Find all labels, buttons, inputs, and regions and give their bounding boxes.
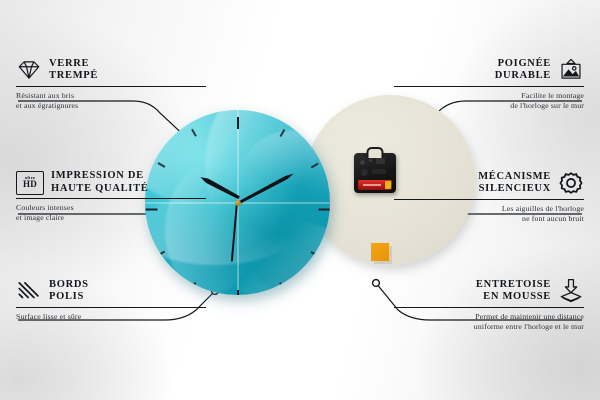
mechanism-hanger: [367, 147, 384, 158]
feature-poignee-durable: POIGNÉE DURABLE Facilite le montage de l…: [394, 57, 584, 111]
feature-desc-line1: Facilite le montage: [394, 91, 584, 101]
feature-title-line1: ENTRETOISE: [476, 279, 551, 292]
feature-title-line1: BORDS: [49, 279, 89, 292]
ultra-hd-icon: ultra HD: [16, 171, 44, 195]
feature-desc-line2: ne font aucun bruit: [394, 214, 584, 224]
infographic-canvas: VERRE TREMPÉ Résistant aux bris et aux é…: [0, 0, 600, 400]
feature-rule: [394, 86, 584, 87]
feature-title-line1: IMPRESSION DE: [51, 170, 149, 183]
feature-title-line2: DURABLE: [495, 70, 551, 83]
feature-title-line1: VERRE: [49, 58, 98, 71]
feature-title-line2: TREMPÉ: [49, 70, 98, 83]
feature-bords-polis: BORDS POLIS Surface lisse et sûre: [16, 278, 206, 322]
feature-entretoise-en-mousse: ENTRETOISE EN MOUSSE Permet de maintenir…: [394, 278, 584, 332]
hanging-frame-icon: [558, 57, 584, 83]
feature-title-line2: POLIS: [49, 291, 89, 304]
feature-rule: [394, 307, 584, 308]
feature-impression-haute-qualite: ultra HD IMPRESSION DE HAUTE QUALITÉ Cou…: [16, 170, 206, 223]
feature-title-line2: EN MOUSSE: [476, 291, 551, 304]
feature-title-line2: HAUTE QUALITÉ: [51, 183, 149, 196]
feature-mecanisme-silencieux: MÉCANISME SILENCIEUX Les aiguilles de l'…: [394, 170, 584, 224]
ultra-hd-large-text: HD: [23, 180, 37, 189]
clock-center-pin: [235, 200, 241, 206]
feature-rule: [16, 86, 206, 87]
gear-icon: [558, 170, 584, 196]
foam-spacer-icon: [558, 278, 584, 304]
feature-desc-line1: Couleurs intenses: [16, 203, 206, 213]
feature-rule: [16, 307, 206, 308]
feature-desc-line2: et aux égratignures: [16, 101, 206, 111]
polished-edges-icon: [16, 278, 42, 304]
feature-title-line2: SILENCIEUX: [478, 183, 551, 196]
quartz-mechanism-icon: [354, 153, 396, 193]
foam-spacer: [371, 243, 389, 261]
feature-title-line1: POIGNÉE: [495, 58, 551, 71]
feature-desc-line1: Permet de maintenir une distance: [394, 312, 584, 322]
battery: [358, 180, 392, 190]
feature-desc-line2: de l'horloge sur le mur: [394, 101, 584, 111]
feature-desc-line1: Les aiguilles de l'horloge: [394, 204, 584, 214]
feature-title-line1: MÉCANISME: [478, 171, 551, 184]
feature-verre-trempe: VERRE TREMPÉ Résistant aux bris et aux é…: [16, 57, 206, 111]
feature-desc-line1: Surface lisse et sûre: [16, 312, 206, 322]
feature-rule: [16, 198, 206, 199]
feature-desc-line2: et image claire: [16, 213, 206, 223]
feature-desc-line1: Résistant aux bris: [16, 91, 206, 101]
feature-desc-line2: uniforme entre l'horloge et le mur: [394, 322, 584, 332]
feature-rule: [394, 199, 584, 200]
diamond-icon: [16, 57, 42, 83]
